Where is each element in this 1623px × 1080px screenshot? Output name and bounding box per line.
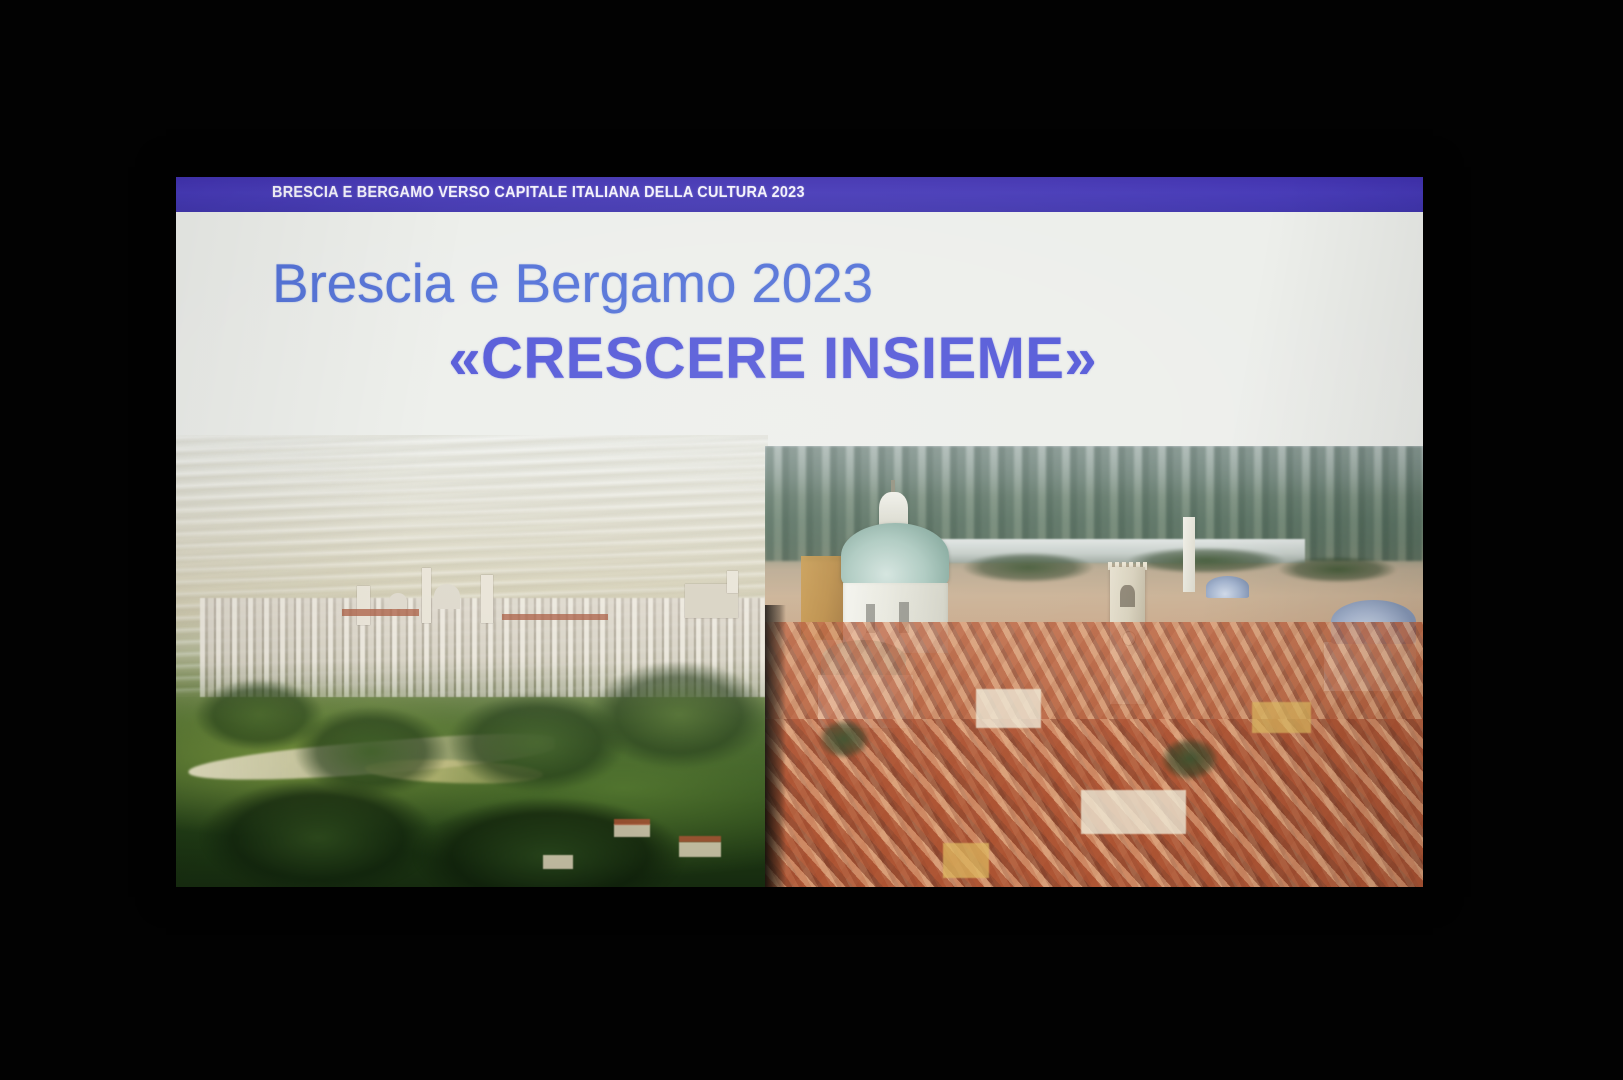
projection-screen: BRESCIA E BERGAMO VERSO CAPITALE ITALIAN…	[0, 0, 1623, 1080]
bergamo-roofline	[342, 609, 419, 616]
brescia-cypress-row	[1127, 547, 1285, 573]
photo-bergamo-citta-alta	[176, 435, 768, 887]
bergamo-lower-village-roof	[614, 819, 650, 824]
brescia-yellow-building	[1252, 702, 1311, 733]
slide-header-title: BRESCIA E BERGAMO VERSO CAPITALE ITALIAN…	[272, 184, 805, 202]
brescia-pale-palazzo	[1081, 790, 1186, 834]
brescia-tower-belfry-opening	[1120, 585, 1135, 607]
bergamo-lower-village	[679, 842, 720, 857]
bergamo-campanone-tower	[422, 568, 431, 622]
slide-photo-strip	[176, 435, 1423, 887]
slide-title-slogan: «CRESCERE INSIEME»	[176, 325, 1423, 392]
presentation-slide: BRESCIA E BERGAMO VERSO CAPITALE ITALIAN…	[176, 177, 1423, 887]
bergamo-lower-village	[543, 855, 573, 869]
brescia-slim-white-tower	[1183, 517, 1196, 592]
brescia-foreground-tree	[1160, 737, 1219, 781]
slide-header-bar: BRESCIA E BERGAMO VERSO CAPITALE ITALIAN…	[176, 177, 1423, 212]
bergamo-tower-left	[357, 586, 370, 624]
bergamo-dome-small	[389, 593, 407, 609]
bergamo-roofline-2	[502, 614, 609, 620]
bergamo-castle-turret	[727, 571, 739, 594]
brescia-foreground-tree	[818, 719, 871, 759]
brescia-foreground-shadow	[765, 605, 786, 887]
brescia-pale-palazzo	[976, 689, 1042, 729]
slide-title-block: Brescia e Bergamo 2023 «CRESCERE INSIEME…	[176, 212, 1423, 437]
bergamo-lower-village-roof	[679, 836, 720, 842]
brescia-yellow-building	[943, 843, 989, 878]
photo-brescia-centro-storico	[765, 446, 1423, 887]
brescia-duomo-nuovo-dome	[841, 523, 950, 589]
bergamo-basilica-dome	[434, 584, 461, 609]
brescia-blue-cupola-small	[1206, 576, 1249, 598]
bergamo-lower-village	[614, 824, 650, 838]
brescia-cypress-row	[1278, 556, 1396, 582]
slide-title-primary: Brescia e Bergamo 2023	[272, 251, 873, 315]
brescia-tree-row	[962, 552, 1094, 583]
bergamo-tower-secondary	[481, 575, 493, 622]
